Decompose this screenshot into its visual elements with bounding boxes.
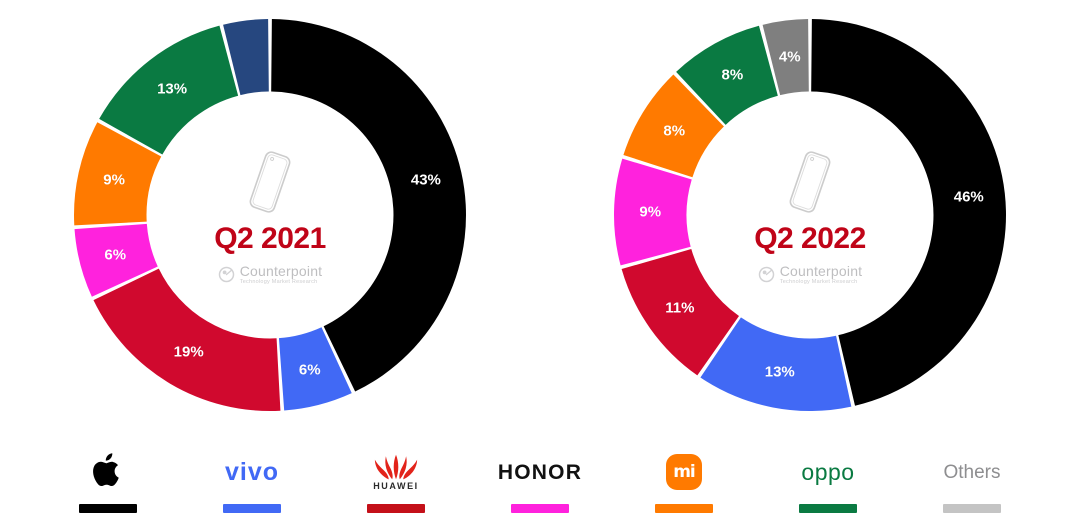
donut-svg-2022 (600, 8, 1020, 423)
xiaomi-mi-letters: mi (673, 464, 695, 481)
donut-slice-huawei[interactable] (93, 269, 280, 411)
donut-charts-row: Q2 2021 Counterpoint Technology Market R… (0, 8, 1080, 433)
oppo-wordmark-icon: oppo (801, 461, 854, 484)
legend-mark-apple (91, 449, 125, 495)
huawei-flower-icon (374, 454, 418, 480)
donut-svg-2021 (60, 8, 480, 423)
legend-item-xiaomi[interactable]: mi (630, 449, 738, 513)
donut-chart-q2-2021: Q2 2021 Counterpoint Technology Market R… (60, 8, 480, 423)
legend-swatch-oppo (799, 504, 857, 513)
legend-swatch-honor (511, 504, 569, 513)
legend-mark-xiaomi: mi (666, 449, 702, 495)
legend-item-apple[interactable] (54, 449, 162, 513)
donut-slices-2021 (74, 19, 466, 411)
legend-swatch-apple (79, 504, 137, 513)
donut-chart-q2-2022: Q2 2022 Counterpoint Technology Market R… (600, 8, 1020, 423)
legend-swatch-vivo (223, 504, 281, 513)
donut-slice-apple[interactable] (811, 19, 1006, 406)
legend-swatch-huawei (367, 504, 425, 513)
legend-swatch-others (943, 504, 1001, 513)
chart-page: Q2 2021 Counterpoint Technology Market R… (0, 0, 1080, 529)
legend-item-huawei[interactable]: HUAWEI (342, 449, 450, 513)
donut-slices-2022 (614, 19, 1006, 411)
legend-mark-honor: HONOR (498, 449, 582, 495)
legend-mark-others: Others (943, 449, 1000, 495)
legend-item-vivo[interactable]: vivo (198, 449, 306, 513)
legend-swatch-xiaomi (655, 504, 713, 513)
huawei-wordmark-icon: HUAWEI (373, 481, 419, 491)
apple-logo-icon (91, 452, 125, 492)
chart-legend: vivo HUAWEI (0, 427, 1080, 523)
legend-mark-vivo: vivo (225, 449, 279, 495)
legend-mark-oppo: oppo (801, 449, 854, 495)
others-text-icon: Others (943, 463, 1000, 482)
legend-item-honor[interactable]: HONOR (486, 449, 594, 513)
legend-item-others[interactable]: Others (918, 449, 1026, 513)
vivo-wordmark-icon: vivo (225, 460, 279, 485)
honor-wordmark-icon: HONOR (498, 462, 582, 483)
xiaomi-mi-icon: mi (666, 454, 702, 490)
donut-slice-honor[interactable] (614, 159, 692, 266)
legend-mark-huawei: HUAWEI (373, 449, 419, 495)
legend-item-oppo[interactable]: oppo (774, 449, 882, 513)
